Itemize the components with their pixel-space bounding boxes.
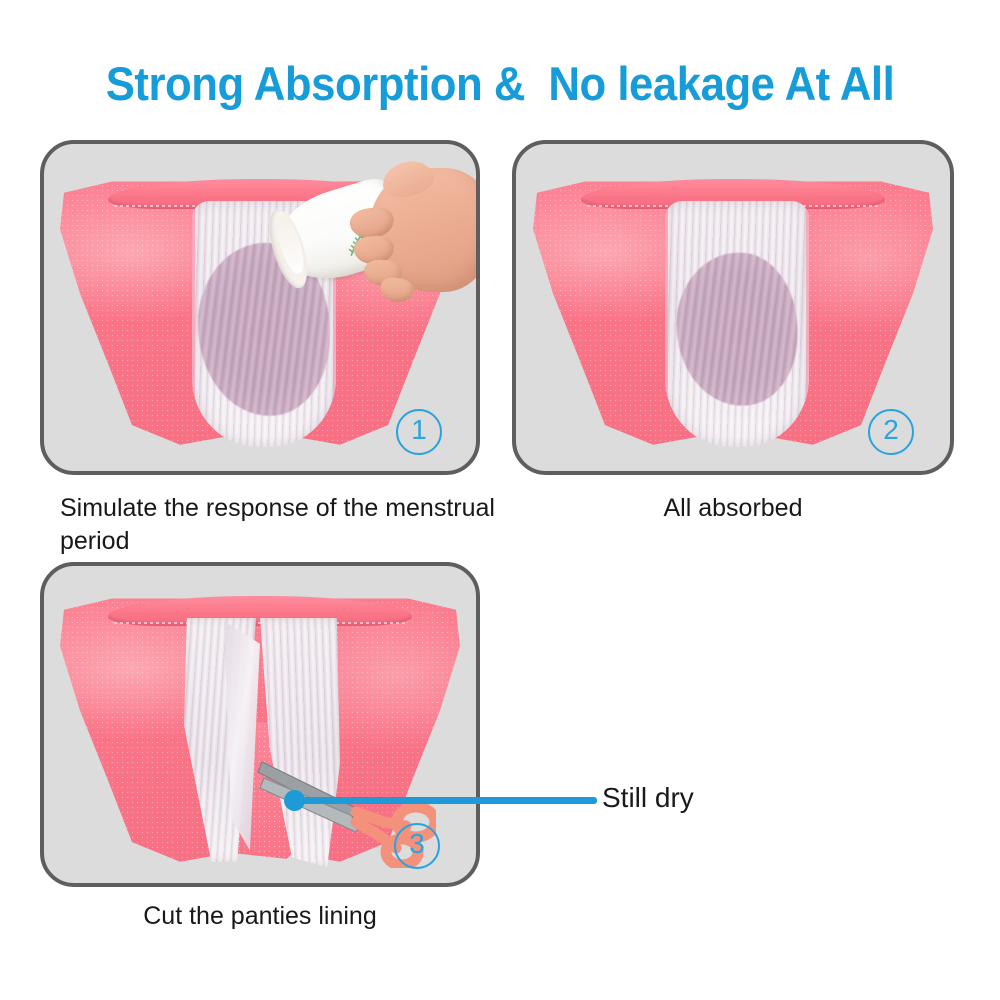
step-panel-3: 3 (40, 562, 480, 887)
wet-stain (677, 253, 798, 406)
caption-step-2: All absorbed (512, 492, 954, 525)
callout-leader-line (292, 797, 597, 804)
panel-2-scene: 2 (516, 144, 950, 471)
page-title: Strong Absorption & No leakage At All (35, 56, 965, 111)
panel-1-scene: 1 (44, 144, 476, 471)
hand-icon (348, 162, 480, 332)
caption-step-3: Cut the panties lining (40, 900, 480, 933)
panel-3-scene: 3 (44, 566, 476, 883)
step-panel-2: 2 (512, 140, 954, 475)
underwear-illustration-2 (533, 168, 933, 448)
step-badge-3: 3 (394, 823, 440, 869)
caption-step-1: Simulate the response of the menstrual p… (60, 492, 510, 558)
step-panel-1: 1 (40, 140, 480, 475)
step-badge-2: 2 (868, 409, 914, 455)
absorbent-lining (665, 201, 809, 447)
pouring-group (270, 160, 480, 340)
callout-label-still-dry: Still dry (602, 782, 694, 814)
step-badge-1: 1 (396, 409, 442, 455)
